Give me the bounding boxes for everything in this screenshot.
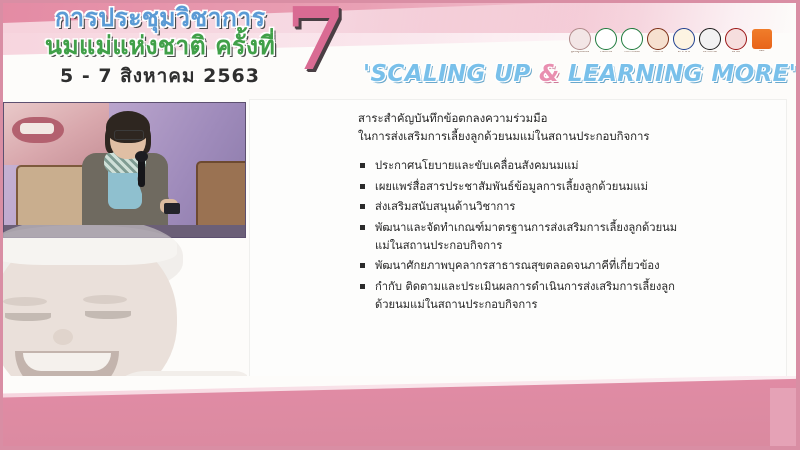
conference-title: การประชุมวิชาการ นมแม่แห่งชาติ ครั้งที่ … [25,5,295,91]
photo-microphone-head [135,151,148,162]
photo-speaker-glasses [114,130,144,140]
logo-health-department-green-icon: กรมการแพทย์ [621,28,643,54]
logo-royal-emblem-blue-caption: สภากาชาด [678,51,691,54]
logo-red-seal-icon: สมาคม [725,28,747,54]
content-bullet-item: พัฒนาศักยภาพบุคลากรสาธารณสุขตลอดจนภาคีที… [358,257,688,275]
logo-thaihealth-sss-caption: สสส. [759,50,765,53]
watermark-nose [53,329,73,345]
content-bullet-item: กำกับ ติดตามและประเมินผลการดำเนินการส่งเ… [358,278,688,313]
tagline-part1: SCALING UP [370,61,530,87]
watermark-brow-left [3,297,47,306]
tagline-ampersand: & [539,61,559,87]
content-bullet-item: ประกาศนโยบายและขับเคลื่อนสังคมนมแม่ [358,157,688,175]
logo-black-circle-seal-disc [699,28,721,50]
logo-royal-seal-caption: มูลนิธิศูนย์นมแม่ [571,51,589,54]
watermark-brow-right [83,295,127,304]
logo-royal-emblem-blue-disc [673,28,695,50]
content-bullet-list: ประกาศนโยบายและขับเคลื่อนสังคมนมแม่เผยแพ… [358,157,688,314]
logo-thaihealth-sss-icon: สสส. [751,28,773,54]
watermark-hat-brim [3,225,177,265]
logo-garuda-orange-disc [647,28,669,50]
watermark-teeth [23,353,111,371]
content-lead-line1: สาระสำคัญบันทึกข้อตกลงความร่วมมือ [358,109,688,127]
logo-red-seal-disc [725,28,747,50]
photo-chair-right [196,161,246,235]
slide-frame: การประชุมวิชาการ นมแม่แห่งชาติ ครั้งที่ … [0,0,800,450]
edition-number: 7 [286,3,346,83]
content-text-block: สาระสำคัญบันทึกข้อตกลงความร่วมมือ ในการส… [358,109,688,316]
watermark-eye-right [85,311,131,319]
content-bullet-item: เผยแพร่สื่อสารประชาสัมพันธ์ข้อมูลการเลี้… [358,178,688,196]
logo-red-seal-caption: สมาคม [732,51,740,54]
logo-black-circle-seal-caption: มหาวิทยาลัย [703,51,717,54]
conference-tagline: 'SCALING UP & LEARNING MORE' [363,61,783,87]
content-bullet-item: พัฒนาและจัดทำเกณฑ์มาตรฐานการส่งเสริมการเ… [358,219,688,254]
tagline-close-quote: ' [789,61,796,87]
content-bullet-item: ส่งเสริมสนับสนุนด้านวิชาการ [358,198,688,216]
logo-black-circle-seal-icon: มหาวิทยาลัย [699,28,721,54]
conference-date: 5 - 7 สิงหาคม 2563 [25,61,295,91]
logo-garuda-orange-caption: กระทรวง [653,51,663,54]
conference-title-line2: นมแม่แห่งชาติ ครั้งที่ [25,33,295,59]
logo-royal-seal-icon: มูลนิธิศูนย์นมแม่ [569,28,591,54]
logo-health-department-green-caption: กรมการแพทย์ [624,51,640,54]
sponsor-logo-row: มูลนิธิศูนย์นมแม่กรมอนามัยกรมการแพทย์กระ… [569,28,773,54]
logo-health-department-green-disc [621,28,643,50]
footer-right-block [770,388,796,446]
photo-clicker-device [164,203,180,214]
speaker-photo [3,102,246,238]
logo-garuda-orange-icon: กระทรวง [647,28,669,54]
tagline-part2: LEARNING MORE [568,61,789,87]
content-lead: สาระสำคัญบันทึกข้อตกลงความร่วมมือ ในการส… [358,109,688,146]
slide-canvas: การประชุมวิชาการ นมแม่แห่งชาติ ครั้งที่ … [3,3,796,446]
slide-header: การประชุมวิชาการ นมแม่แห่งชาติ ครั้งที่ … [3,3,796,99]
slide-footer [3,376,796,446]
conference-title-line1: การประชุมวิชาการ [25,5,295,31]
logo-ministry-health-green-caption: กรมอนามัย [600,51,613,54]
content-lead-line2: ในการส่งเสริมการเลี้ยงลูกด้วยนมแม่ในสถาน… [358,127,688,145]
watermark-eye-left [5,313,51,321]
logo-royal-emblem-blue-icon: สภากาชาด [673,28,695,54]
logo-royal-seal-disc [569,28,591,50]
logo-thaihealth-sss-disc [752,29,772,49]
logo-ministry-health-green-disc [595,28,617,50]
logo-ministry-health-green-icon: กรมอนามัย [595,28,617,54]
photo-screen-teeth [20,123,54,134]
